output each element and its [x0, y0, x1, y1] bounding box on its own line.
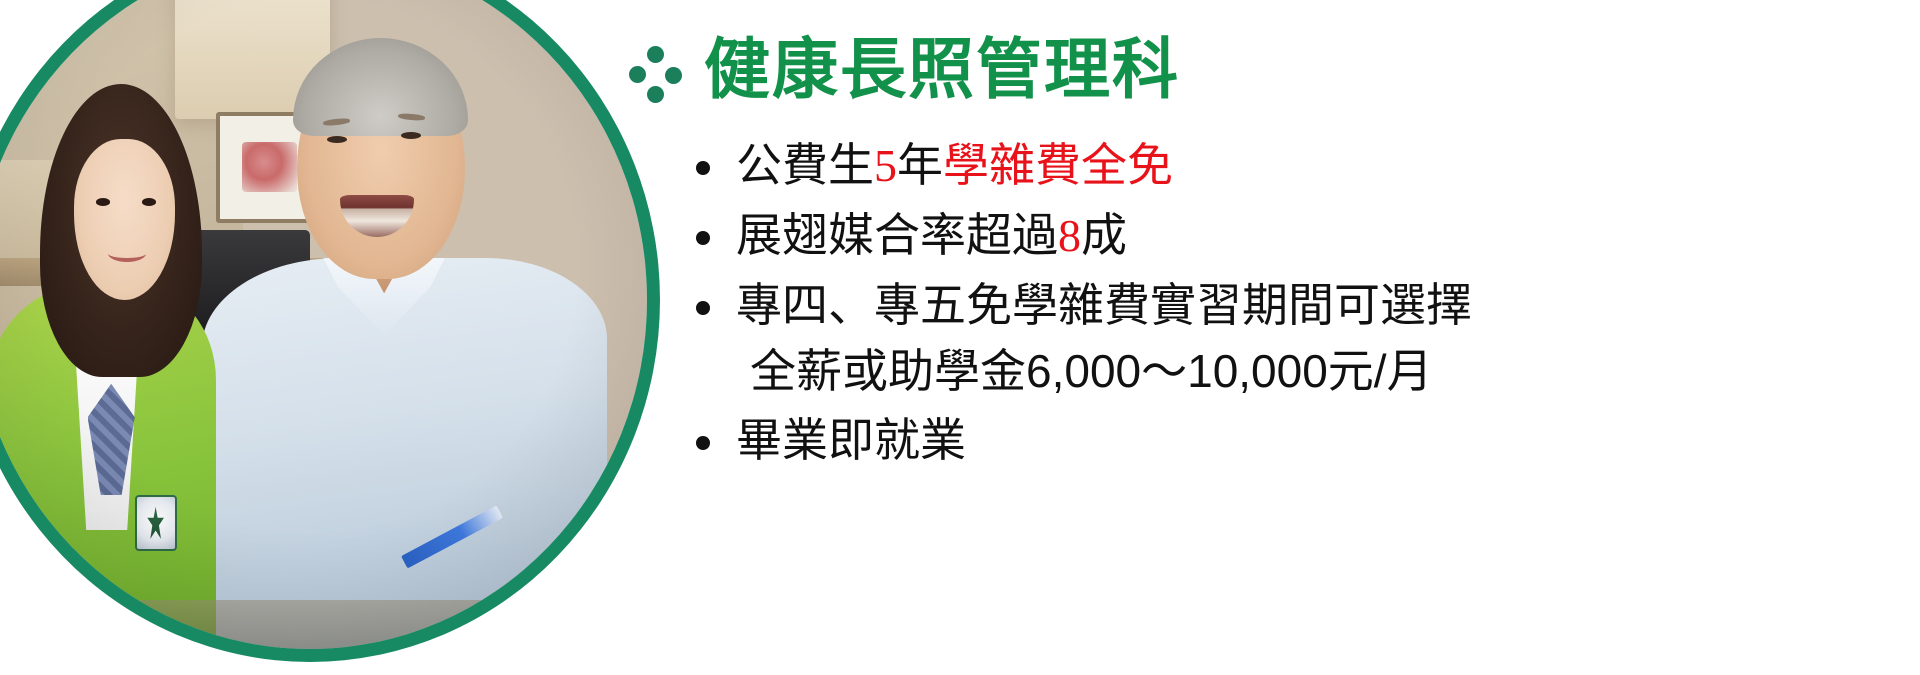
feature-text-second-line: 全薪或助學金6,000～10,000元/月: [736, 338, 1905, 404]
feature-text-black: 畢業即就業: [736, 414, 966, 466]
student-elder-photo: [0, 0, 647, 649]
feature-text-black: 專四、專五免學雜費實習期間可選擇: [736, 279, 1472, 331]
dot-bottom: [647, 86, 664, 103]
dot-top: [647, 46, 664, 63]
dot-right: [665, 67, 682, 84]
feature-text-black: 年: [897, 139, 943, 191]
content-column: 健康長照管理科 公費生5年學雜費全免 展翅媒合率超過8成 專四、專五免學雜費實習…: [612, 0, 1920, 600]
feature-highlight-number: 8: [1058, 210, 1081, 261]
feature-highlight-text: 學雜費全免: [943, 139, 1173, 191]
list-item: 專四、專五免學雜費實習期間可選擇 全薪或助學金6,000～10,000元/月: [690, 272, 1905, 404]
feature-text-black: 展翅媒合率超過: [736, 209, 1058, 261]
photo-vignette: [0, 0, 647, 649]
feature-text-black: 成: [1081, 209, 1127, 261]
photo-medallion: [0, 0, 660, 662]
list-item: 展翅媒合率超過8成: [690, 202, 1905, 269]
feature-list: 公費生5年學雜費全免 展翅媒合率超過8成 專四、專五免學雜費實習期間可選擇 全薪…: [690, 132, 1905, 476]
list-item: 畢業即就業: [690, 407, 1905, 473]
department-promo-banner: 健康長照管理科 公費生5年學雜費全免 展翅媒合率超過8成 專四、專五免學雜費實習…: [0, 0, 1920, 600]
feature-text-black: 公費生: [736, 139, 874, 191]
page-title: 健康長照管理科: [704, 36, 1180, 102]
list-item: 公費生5年學雜費全免: [690, 132, 1905, 199]
feature-highlight-number: 5: [874, 140, 897, 191]
